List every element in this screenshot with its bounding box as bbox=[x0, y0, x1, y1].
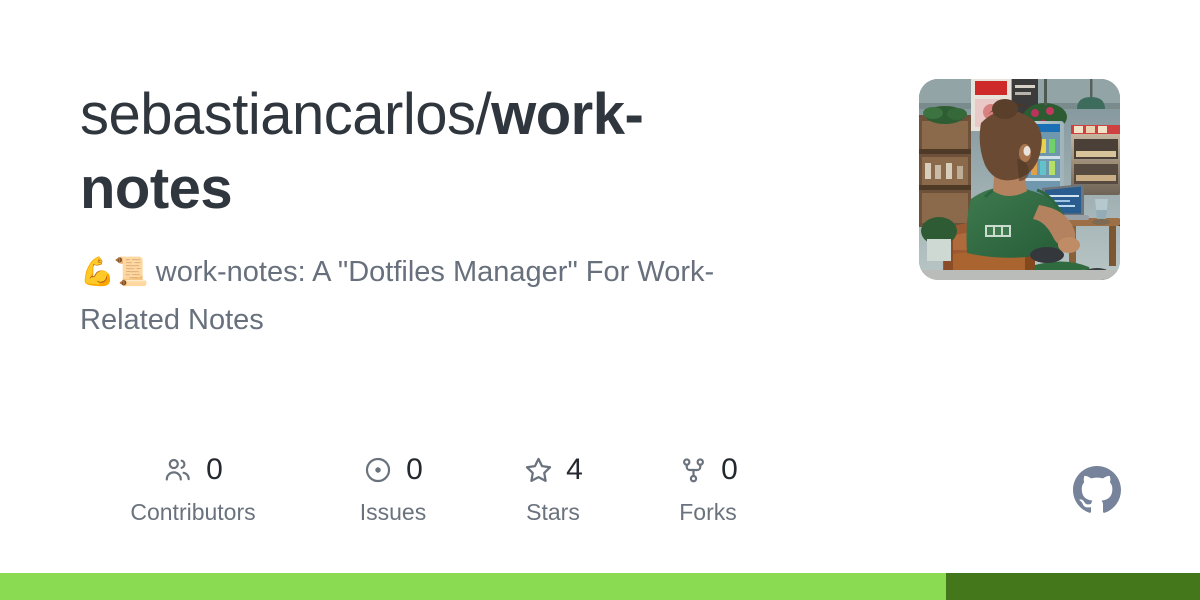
stat-forks[interactable]: 0 Forks bbox=[628, 452, 788, 525]
github-mark-icon bbox=[1073, 466, 1121, 514]
stat-contributors-top: 0 bbox=[163, 452, 223, 488]
stat-issues[interactable]: 0 Issues bbox=[308, 452, 478, 525]
repository-stats: 0 Contributors 0 Issues bbox=[78, 452, 788, 525]
language-segment-primary bbox=[0, 573, 946, 600]
stat-contributors-label: Contributors bbox=[130, 499, 255, 525]
stat-forks-label: Forks bbox=[679, 499, 737, 525]
repository-info: sebastiancarlos/work-notes 💪📜 work-notes… bbox=[80, 78, 780, 344]
stat-contributors-value: 0 bbox=[206, 455, 223, 485]
issue-opened-icon bbox=[363, 455, 393, 485]
stat-forks-top: 0 bbox=[678, 452, 738, 488]
stat-issues-top: 0 bbox=[363, 452, 423, 488]
people-icon bbox=[163, 455, 193, 485]
stat-issues-label: Issues bbox=[360, 499, 426, 525]
language-segment-secondary bbox=[946, 573, 1200, 600]
repository-description: 💪📜 work-notes: A "Dotfiles Manager" For … bbox=[80, 248, 780, 344]
description-emoji: 💪📜 bbox=[80, 255, 148, 288]
stat-contributors[interactable]: 0 Contributors bbox=[78, 452, 308, 525]
repository-social-preview-card: sebastiancarlos/work-notes 💪📜 work-notes… bbox=[0, 0, 1200, 600]
language-bar bbox=[0, 573, 1200, 600]
repository-separator: / bbox=[476, 82, 492, 147]
stat-stars-top: 4 bbox=[523, 452, 583, 488]
page-title: sebastiancarlos/work-notes bbox=[80, 78, 780, 226]
social-preview-photo bbox=[919, 79, 1120, 280]
stat-issues-value: 0 bbox=[406, 455, 423, 485]
stat-stars[interactable]: 4 Stars bbox=[478, 452, 628, 525]
star-icon bbox=[523, 455, 553, 485]
description-text: work-notes: A "Dotfiles Manager" For Wor… bbox=[80, 256, 714, 336]
repository-owner[interactable]: sebastiancarlos bbox=[80, 82, 476, 147]
stat-stars-label: Stars bbox=[526, 499, 580, 525]
stat-forks-value: 0 bbox=[721, 455, 738, 485]
stat-stars-value: 4 bbox=[566, 455, 583, 485]
repo-forked-icon bbox=[678, 455, 708, 485]
